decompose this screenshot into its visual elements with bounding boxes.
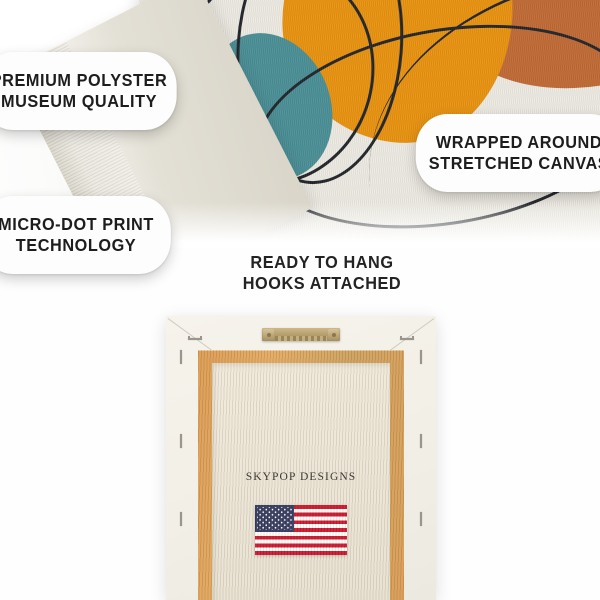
badge-micro-line2: TECHNOLOGY	[16, 235, 136, 256]
united-states-flag-icon	[255, 505, 347, 555]
label-ready-line1: READY TO HANG	[238, 252, 405, 273]
badge-premium-line2: MUSEUM QUALITY	[1, 91, 157, 112]
sawtooth-hanger-icon	[262, 328, 340, 341]
badge-premium-line1: PREMIUM POLYSTER	[0, 70, 167, 91]
hanger-teeth	[275, 336, 327, 341]
staple-right-1	[420, 350, 422, 364]
flag-canton-stars	[255, 505, 294, 532]
staple-left-1	[180, 350, 182, 364]
staple-right-2	[420, 434, 422, 448]
label-ready-line2: HOOKS ATTACHED	[238, 273, 405, 294]
badge-micro-dot-print: MICRO-DOT PRINT TECHNOLOGY	[0, 196, 171, 274]
brand-label: SKYPOP DESIGNS	[212, 471, 390, 483]
badge-micro-line1: MICRO-DOT PRINT	[0, 214, 154, 235]
hanger-screw-right	[328, 329, 339, 340]
canvas-back-photo: SKYPOP DESIGNS	[166, 316, 436, 600]
canvas-back-surface: SKYPOP DESIGNS	[166, 316, 436, 600]
badge-wrapped-line1: WRAPPED AROUND	[436, 132, 600, 153]
flag-stripes	[255, 505, 347, 555]
badge-wrapped-line2: STRETCHED CANVAS	[429, 153, 600, 174]
badge-wrapped-around: WRAPPED AROUND STRETCHED CANVAS	[416, 114, 600, 192]
staple-right-3	[420, 512, 422, 526]
product-infographic: PREMIUM POLYSTER MUSEUM QUALITY WRAPPED …	[0, 0, 600, 600]
label-ready-to-hang: READY TO HANG HOOKS ATTACHED	[238, 252, 405, 294]
staple-top-left	[188, 338, 202, 340]
staple-left-3	[180, 512, 182, 526]
wooden-stretcher-frame: SKYPOP DESIGNS	[198, 350, 404, 600]
hanger-screw-left	[263, 329, 274, 340]
canvas-backing-panel: SKYPOP DESIGNS	[212, 363, 390, 600]
staple-top-right	[400, 338, 414, 340]
badge-premium-polyster: PREMIUM POLYSTER MUSEUM QUALITY	[0, 52, 177, 130]
staple-left-2	[180, 434, 182, 448]
